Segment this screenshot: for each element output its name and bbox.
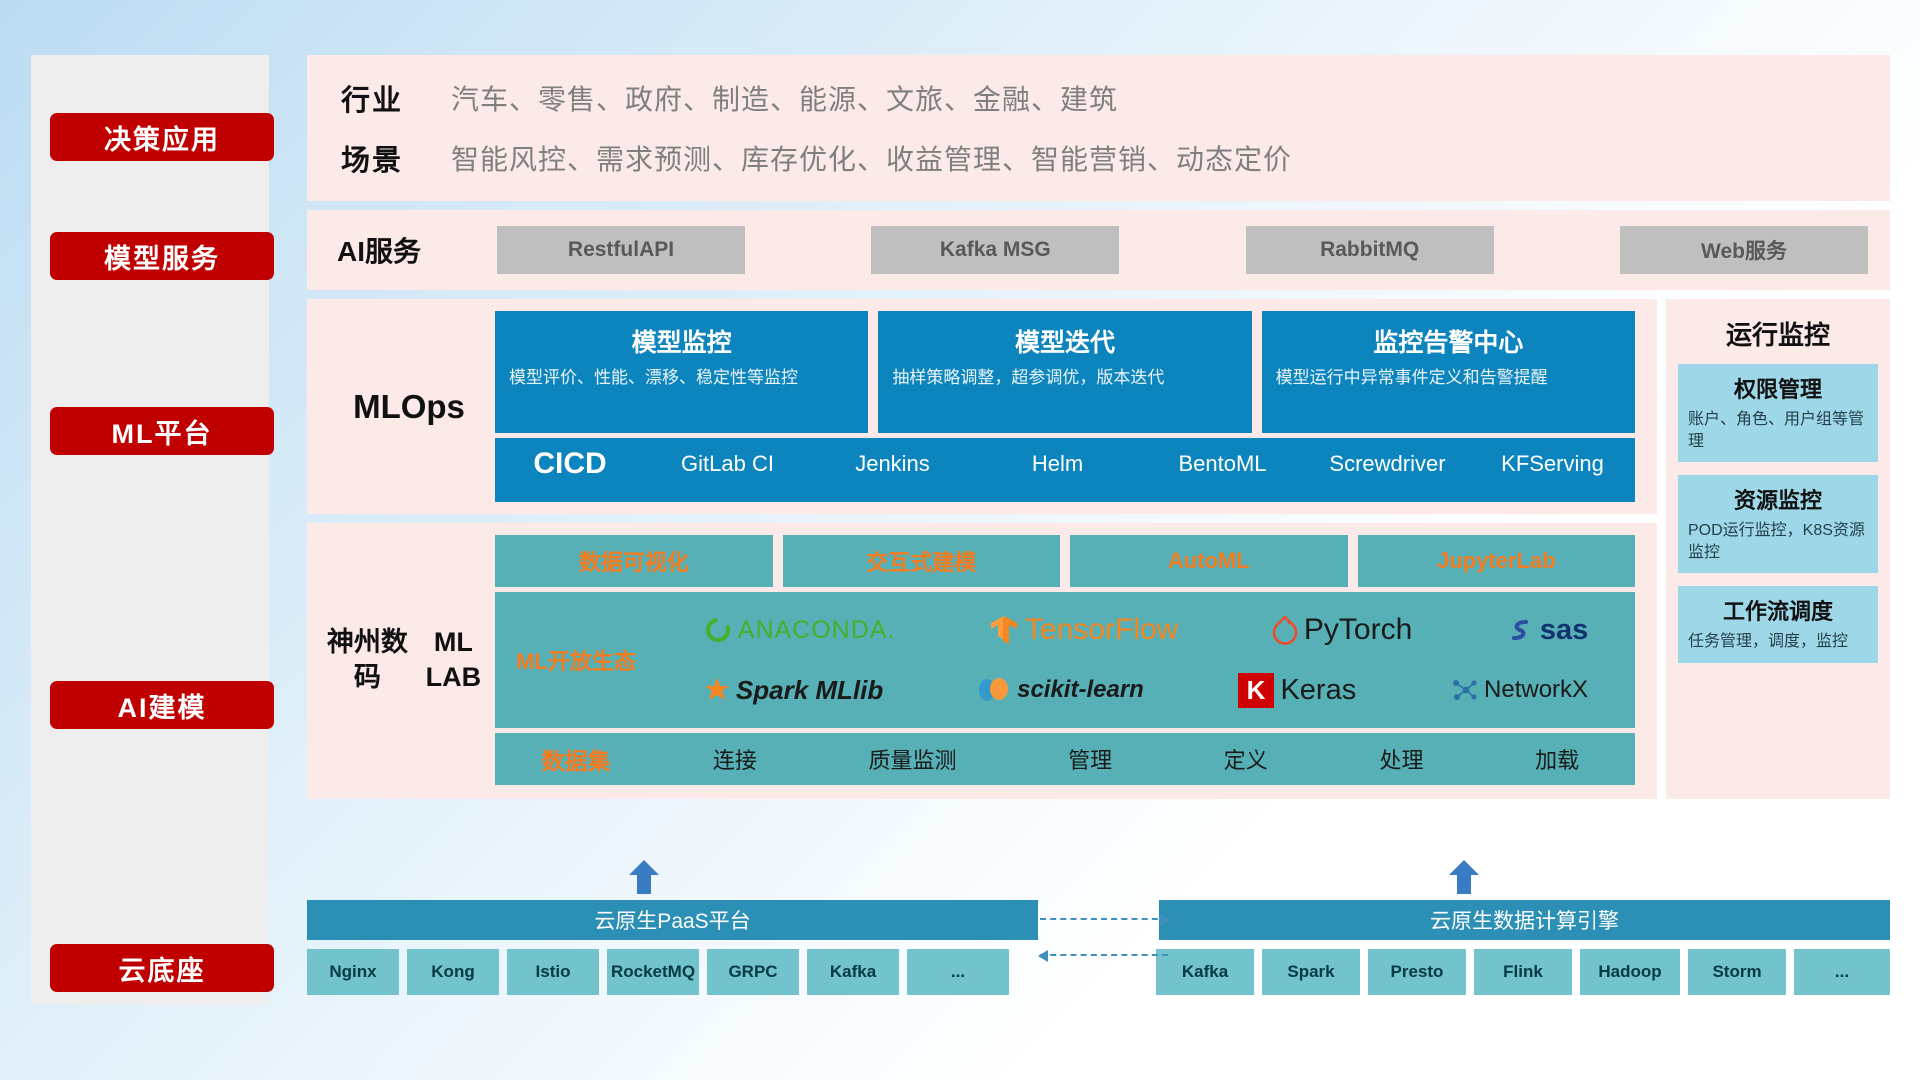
arrow-right-icon	[1040, 918, 1168, 920]
layer-tag-ai-modeling: AI建模	[50, 681, 274, 729]
paas-chip-group: Nginx Kong Istio RocketMQ GRPC Kafka ...	[307, 949, 1009, 995]
scikit-label: scikit-learn	[1017, 676, 1144, 704]
industry-scenario-band: 行业 汽车、零售、政府、制造、能源、文旅、金融、建筑 场景 智能风控、需求预测、…	[307, 55, 1890, 201]
industry-value: 汽车、零售、政府、制造、能源、文旅、金融、建筑	[451, 78, 1118, 118]
cicd-item[interactable]: Screwdriver	[1305, 438, 1470, 478]
cicd-row: CICD GitLab CI Jenkins Helm BentoML Scre…	[495, 438, 1635, 502]
modeling-top-boxes: 数据可视化 交互式建模 AutoML JupyterLab	[495, 535, 1635, 587]
data-chip[interactable]: Flink	[1474, 949, 1572, 995]
layer-tag-cloud-base: 云底座	[50, 944, 274, 992]
arrow-up-icon	[627, 860, 661, 894]
ml-ecosystem-label: ML开放生态	[495, 644, 657, 676]
runtime-monitor-title: 运行监控	[1666, 299, 1890, 364]
arrow-left-icon	[1040, 954, 1168, 956]
platform-left: MLOps 模型监控 模型评价、性能、漂移、稳定性等监控 模型迭代 抽样策略调整…	[307, 299, 1657, 799]
modeling-label-line1: 神州数码	[323, 625, 412, 695]
cicd-item[interactable]: Jenkins	[810, 438, 975, 478]
scenario-value: 智能风控、需求预测、库存优化、收益管理、智能营销、动态定价	[451, 138, 1292, 178]
card-title: 工作流调度	[1688, 594, 1868, 626]
modeling-box-interactive[interactable]: 交互式建模	[783, 535, 1061, 587]
layer-tag-label: 云底座	[119, 949, 206, 988]
card-title: 资源监控	[1688, 483, 1868, 515]
mlops-body: 模型监控 模型评价、性能、漂移、稳定性等监控 模型迭代 抽样策略调整，超参调优，…	[495, 311, 1635, 502]
paas-chip[interactable]: Istio	[507, 949, 599, 995]
paas-bar[interactable]: 云原生PaaS平台	[307, 900, 1038, 940]
paas-chip[interactable]: Nginx	[307, 949, 399, 995]
dataset-items: 连接 质量监测 管理 定义 处理 加载	[657, 743, 1635, 775]
left-rail-background	[31, 55, 269, 1005]
paas-chip[interactable]: GRPC	[707, 949, 799, 995]
mlops-cards: 模型监控 模型评价、性能、漂移、稳定性等监控 模型迭代 抽样策略调整，超参调优，…	[495, 311, 1635, 433]
card-desc: 模型评价、性能、漂移、稳定性等监控	[509, 367, 854, 390]
monitor-card-resource[interactable]: 资源监控 POD运行监控，K8S资源监控	[1678, 475, 1878, 573]
layer-tag-label: AI建模	[118, 686, 207, 725]
modeling-label: 神州数码 ML LAB	[323, 535, 495, 785]
paas-chip[interactable]: RocketMQ	[607, 949, 699, 995]
dataset-item[interactable]: 管理	[1068, 743, 1112, 775]
card-desc: 任务管理，调度，监控	[1688, 631, 1868, 653]
industry-label: 行业	[341, 77, 451, 119]
dataset-item[interactable]: 质量监测	[868, 743, 956, 775]
ml-ecosystem-logos: ANACONDA. TensorFlow PyTorch	[657, 601, 1635, 719]
runtime-monitor-panel: 运行监控 权限管理 账户、角色、用户组等管理 资源监控 POD运行监控，K8S资…	[1666, 299, 1890, 799]
mlops-label: MLOps	[323, 311, 495, 502]
mlops-card-alert-center[interactable]: 监控告警中心 模型运行中异常事件定义和告警提醒	[1262, 311, 1635, 433]
modeling-label-line2: ML LAB	[412, 625, 495, 695]
ai-service-item[interactable]: Web服务	[1620, 226, 1868, 274]
ai-service-item[interactable]: RestfulAPI	[497, 226, 745, 274]
data-chip-group: Kafka Spark Presto Flink Hadoop Storm ..…	[1156, 949, 1890, 995]
modeling-box-jupyterlab[interactable]: JupyterLab	[1358, 535, 1636, 587]
layer-tag-ml-platform: ML平台	[50, 407, 274, 455]
modeling-body: 数据可视化 交互式建模 AutoML JupyterLab ML开放生态	[495, 535, 1635, 785]
dataset-label: 数据集	[495, 742, 657, 776]
architecture-diagram: 决策应用 模型服务 ML平台 AI建模 云底座 行业 汽车、零售、政府、制造、能…	[0, 0, 1920, 1080]
paas-chip[interactable]: Kong	[407, 949, 499, 995]
dataset-item[interactable]: 连接	[713, 743, 757, 775]
networkx-icon: NetworkX	[1450, 676, 1588, 704]
scenario-label: 场景	[341, 137, 451, 179]
layer-tag-decision-app: 决策应用	[50, 113, 274, 161]
monitor-card-workflow[interactable]: 工作流调度 任务管理，调度，监控	[1678, 586, 1878, 663]
data-chip[interactable]: Presto	[1368, 949, 1466, 995]
card-title: 权限管理	[1688, 372, 1868, 404]
cicd-item[interactable]: GitLab CI	[645, 438, 810, 478]
cicd-item[interactable]: Helm	[975, 438, 1140, 478]
keras-mark: K	[1238, 673, 1275, 708]
cicd-label: CICD	[495, 438, 645, 481]
mlops-card-model-iteration[interactable]: 模型迭代 抽样策略调整，超参调优，版本迭代	[878, 311, 1251, 433]
ml-ecosystem-logo-row-1: ANACONDA. TensorFlow PyTorch	[657, 601, 1635, 659]
dataset-item[interactable]: 处理	[1379, 743, 1423, 775]
spark-label: Spark MLlib	[736, 675, 883, 706]
ai-service-band: AI服务 RestfulAPI Kafka MSG RabbitMQ Web服务	[307, 210, 1890, 290]
layer-tag-label: ML平台	[112, 412, 213, 451]
modeling-band: 神州数码 ML LAB 数据可视化 交互式建模 AutoML JupyterLa…	[307, 523, 1657, 799]
mlops-band: MLOps 模型监控 模型评价、性能、漂移、稳定性等监控 模型迭代 抽样策略调整…	[307, 299, 1657, 514]
card-title: 模型迭代	[892, 323, 1237, 359]
bidirectional-link	[1040, 918, 1168, 956]
layer-tag-label: 决策应用	[104, 118, 220, 157]
modeling-box-automl[interactable]: AutoML	[1070, 535, 1348, 587]
ai-service-label: AI服务	[337, 230, 497, 270]
data-chip[interactable]: Kafka	[1156, 949, 1254, 995]
data-chip[interactable]: Storm	[1688, 949, 1786, 995]
networkx-label: NetworkX	[1484, 676, 1588, 704]
anaconda-label: ANACONDA.	[738, 616, 896, 645]
dataset-item[interactable]: 加载	[1535, 743, 1579, 775]
ai-service-item[interactable]: Kafka MSG	[871, 226, 1119, 274]
tensorflow-label: TensorFlow	[1025, 613, 1178, 647]
dataset-row: 数据集 连接 质量监测 管理 定义 处理 加载	[495, 733, 1635, 785]
data-engine-bar[interactable]: 云原生数据计算引擎	[1159, 900, 1890, 940]
dataset-item[interactable]: 定义	[1224, 743, 1268, 775]
pytorch-icon: PyTorch	[1272, 613, 1412, 647]
keras-label: Keras	[1280, 674, 1356, 707]
cicd-item[interactable]: BentoML	[1140, 438, 1305, 478]
scikit-learn-icon: scikit-learn	[977, 676, 1144, 704]
modeling-box-data-viz[interactable]: 数据可视化	[495, 535, 773, 587]
sas-label: sas	[1540, 614, 1588, 647]
industry-row: 行业 汽车、零售、政府、制造、能源、文旅、金融、建筑	[307, 77, 1890, 119]
layer-tag-model-service: 模型服务	[50, 232, 274, 280]
sas-icon: sas	[1506, 614, 1588, 647]
spark-mllib-icon: Spark MLlib	[704, 675, 883, 706]
data-chip[interactable]: Hadoop	[1580, 949, 1680, 995]
card-desc: 抽样策略调整，超参调优，版本迭代	[892, 367, 1237, 390]
pytorch-label: PyTorch	[1304, 613, 1412, 647]
data-chip[interactable]: ...	[1794, 949, 1890, 995]
ai-service-boxes: RestfulAPI Kafka MSG RabbitMQ Web服务	[497, 226, 1890, 274]
scenario-row: 场景 智能风控、需求预测、库存优化、收益管理、智能营销、动态定价	[307, 137, 1890, 179]
platform-section: MLOps 模型监控 模型评价、性能、漂移、稳定性等监控 模型迭代 抽样策略调整…	[307, 299, 1890, 799]
ai-service-item[interactable]: RabbitMQ	[1246, 226, 1494, 274]
layer-tag-label: 模型服务	[104, 237, 220, 276]
card-desc: POD运行监控，K8S资源监控	[1688, 520, 1868, 563]
arrow-up-icon	[1447, 860, 1481, 894]
card-desc: 模型运行中异常事件定义和告警提醒	[1276, 367, 1621, 390]
data-chip[interactable]: Spark	[1262, 949, 1360, 995]
anaconda-icon: ANACONDA.	[704, 616, 896, 645]
paas-chip[interactable]: Kafka	[807, 949, 899, 995]
main-column: 行业 汽车、零售、政府、制造、能源、文旅、金融、建筑 场景 智能风控、需求预测、…	[307, 55, 1890, 799]
keras-icon: K Keras	[1238, 673, 1357, 708]
monitor-card-permission[interactable]: 权限管理 账户、角色、用户组等管理	[1678, 364, 1878, 462]
card-title: 模型监控	[509, 323, 854, 359]
mlops-card-model-monitor[interactable]: 模型监控 模型评价、性能、漂移、稳定性等监控	[495, 311, 868, 433]
ml-ecosystem-row: ML开放生态 ANACONDA. TensorFlow	[495, 592, 1635, 728]
card-title: 监控告警中心	[1276, 323, 1621, 359]
ml-ecosystem-logo-row-2: Spark MLlib scikit-learn K Keras	[657, 661, 1635, 719]
paas-chip[interactable]: ...	[907, 949, 1009, 995]
tensorflow-icon: TensorFlow	[989, 613, 1178, 647]
cicd-item[interactable]: KFServing	[1470, 438, 1635, 478]
card-desc: 账户、角色、用户组等管理	[1688, 409, 1868, 452]
